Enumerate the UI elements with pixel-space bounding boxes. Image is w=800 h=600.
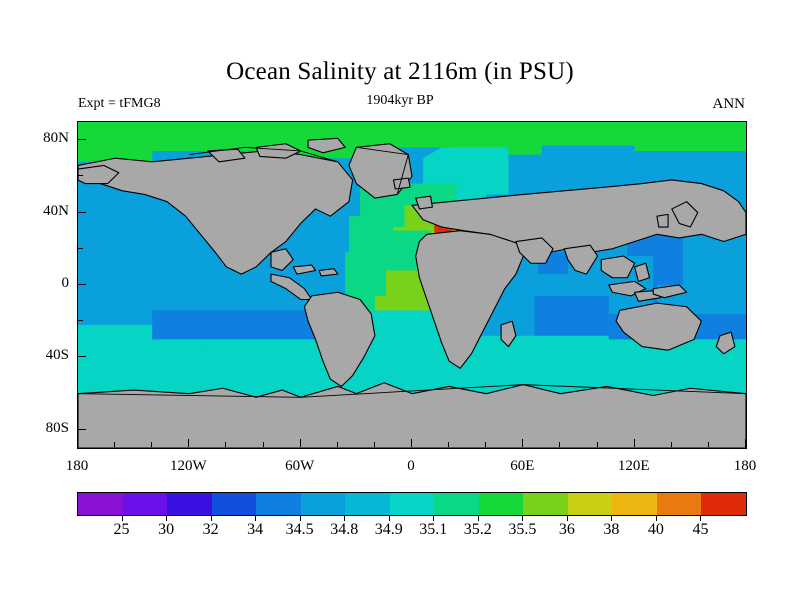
y-tick-minor: [78, 175, 83, 176]
y-tick-minor: [78, 393, 83, 394]
colorbar-cell: [523, 493, 568, 515]
salinity-map: [78, 122, 746, 448]
x-tick-major: [745, 439, 746, 447]
x-tick-minor: [114, 442, 115, 447]
x-axis-label: 120W: [153, 459, 223, 474]
colorbar-cell: [612, 493, 657, 515]
x-tick-minor: [151, 442, 152, 447]
x-tick-minor: [671, 442, 672, 447]
x-tick-minor: [597, 442, 598, 447]
experiment-label: Expt = tFMG8: [78, 96, 161, 112]
x-tick-minor: [337, 442, 338, 447]
colorbar-cell: [657, 493, 702, 515]
y-axis-label: 80S: [23, 421, 69, 436]
season-label: ANN: [713, 96, 746, 113]
x-axis-label: 60W: [265, 459, 335, 474]
x-tick-minor: [263, 442, 264, 447]
x-tick-minor: [225, 442, 226, 447]
x-tick-major: [77, 439, 78, 447]
x-tick-major: [634, 439, 635, 447]
colorbar-cell: [701, 493, 746, 515]
colorbar: [77, 492, 747, 516]
x-tick-minor: [448, 442, 449, 447]
x-axis-label: 0: [376, 459, 446, 474]
y-axis-label: 40N: [23, 204, 69, 219]
colorbar-cell: [167, 493, 212, 515]
x-tick-minor: [559, 442, 560, 447]
x-tick-minor: [374, 442, 375, 447]
x-tick-minor: [708, 442, 709, 447]
colorbar-cell: [479, 493, 524, 515]
x-axis-label: 180: [42, 459, 112, 474]
y-tick-major: [78, 139, 86, 140]
colorbar-cell: [301, 493, 346, 515]
y-tick-major: [78, 429, 86, 430]
y-tick-major: [78, 212, 86, 213]
colorbar-cell: [78, 493, 123, 515]
x-axis-label: 60E: [487, 459, 557, 474]
page-title: Ocean Salinity at 2116m (in PSU): [0, 58, 800, 86]
y-tick-minor: [78, 320, 83, 321]
x-tick-major: [522, 439, 523, 447]
y-tick-minor: [78, 248, 83, 249]
colorbar-cell: [123, 493, 168, 515]
x-axis-label: 120E: [599, 459, 669, 474]
colorbar-cell: [256, 493, 301, 515]
colorbar-cell: [434, 493, 479, 515]
y-tick-major: [78, 356, 86, 357]
x-tick-major: [411, 439, 412, 447]
y-tick-major: [78, 284, 86, 285]
x-tick-minor: [485, 442, 486, 447]
x-axis-label: 180: [710, 459, 780, 474]
y-axis-label: 0: [23, 276, 69, 291]
x-tick-major: [188, 439, 189, 447]
y-axis-label: 80N: [23, 131, 69, 146]
y-axis-label: 40S: [23, 348, 69, 363]
map-plot-area: [77, 121, 747, 449]
colorbar-cell: [568, 493, 613, 515]
colorbar-cell: [345, 493, 390, 515]
x-tick-major: [300, 439, 301, 447]
colorbar-label: 45: [670, 522, 730, 538]
colorbar-cell: [390, 493, 435, 515]
figure-root: Ocean Salinity at 2116m (in PSU) 1904kyr…: [0, 0, 800, 600]
colorbar-cell: [212, 493, 257, 515]
